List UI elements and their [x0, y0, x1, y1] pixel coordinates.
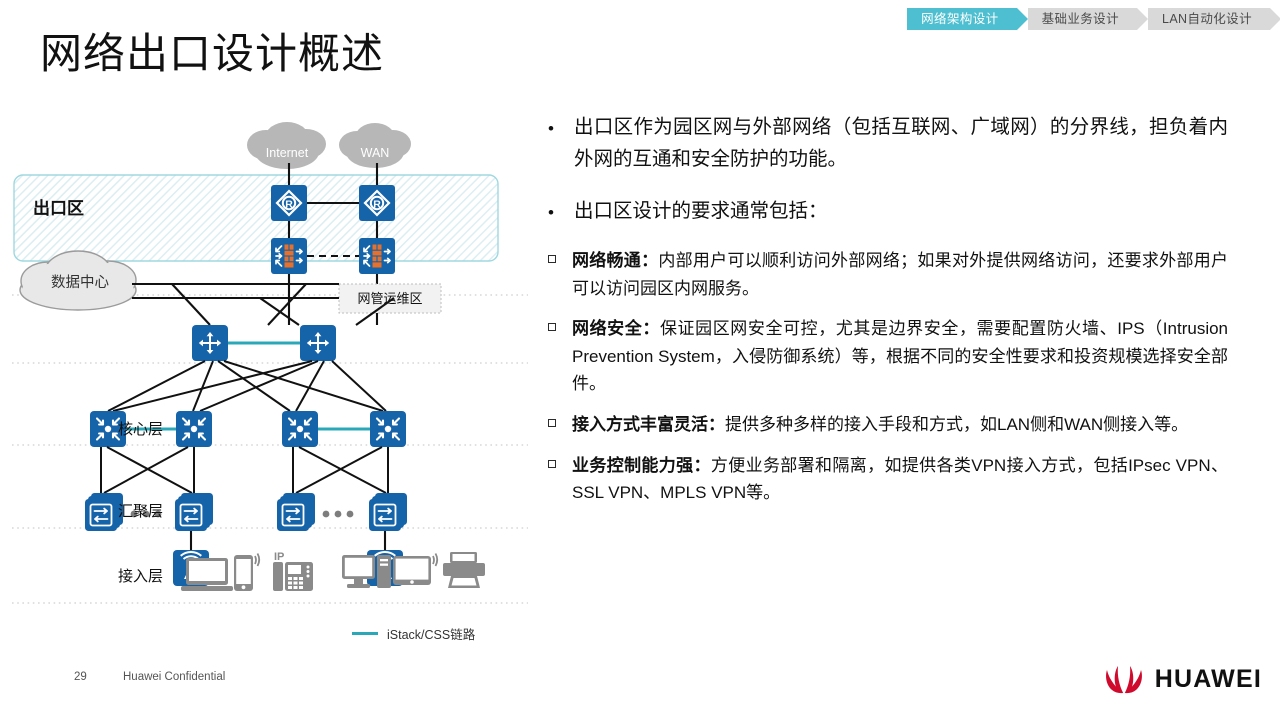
bullet-level2: 业务控制能力强：方便业务部署和隔离，如提供各类VPN接入方式，包括IPsec V…: [548, 452, 1228, 507]
confidentiality-notice: Huawei Confidential: [123, 671, 225, 683]
bullet-square-icon: [548, 315, 572, 398]
access-switch-icon: [175, 493, 213, 531]
bullet-dot-icon: •: [548, 196, 574, 228]
ip-phone-icon: IP: [273, 551, 313, 591]
bullet-level2: 接入方式丰富灵活：提供多种多样的接入手段和方式，如LAN侧和WAN侧接入等。: [548, 411, 1228, 439]
nms-zone-label: 网管运维区: [357, 291, 422, 306]
access-switch-icon: [369, 493, 407, 531]
access-ellipsis: [323, 511, 354, 518]
bullet-level2-text-0: 网络畅通：内部用户可以顺利访问外部网络；如果对外提供网络访问，还要求外部用户可以…: [572, 247, 1228, 302]
breadcrumb-item-2[interactable]: LAN自动化设计: [1148, 8, 1270, 30]
breadcrumb: 网络架构设计 基础业务设计 LAN自动化设计: [907, 8, 1270, 30]
bullet-level2-body-1: 保证园区网安全可控，尤其是边界安全，需要配置防火墙、IPS（Intrusion …: [572, 319, 1228, 393]
bullet-level2-term-0: 网络畅通：: [572, 251, 658, 270]
network-topology-diagram: R: [0, 95, 540, 665]
wan-cloud-label: WAN: [361, 146, 390, 160]
egress-zone-label: 出口区: [33, 198, 84, 218]
laptop-icon: [181, 558, 233, 591]
access-layer-label: 接入层: [118, 565, 163, 586]
printer-icon: [443, 552, 485, 588]
huawei-flower-icon: [1102, 662, 1146, 696]
huawei-wordmark: HUAWEI: [1155, 665, 1262, 694]
core-switch-icon: [192, 325, 228, 361]
bullet-level2-body-0: 内部用户可以顺利访问外部网络；如果对外提供网络访问，还要求外部用户可以访问园区内…: [572, 251, 1228, 298]
breadcrumb-label-2: LAN自动化设计: [1162, 13, 1252, 26]
bullet-level2: 网络安全：保证园区网安全可控，尤其是边界安全，需要配置防火墙、IPS（Intru…: [548, 315, 1228, 398]
internet-cloud-label: Internet: [266, 146, 309, 160]
wan-cloud: WAN: [339, 123, 411, 168]
smartphone-icon: [234, 554, 259, 592]
bullet-level1: • 出口区作为园区网与外部网络（包括互联网、广域网）的分界线，担负着内外网的互通…: [548, 112, 1228, 176]
bullet-level1-text-0: 出口区作为园区网与外部网络（包括互联网、广域网）的分界线，担负着内外网的互通和安…: [574, 112, 1228, 176]
access-switch-icon: [277, 493, 315, 531]
bullet-level2-text-3: 业务控制能力强：方便业务部署和隔离，如提供各类VPN接入方式，包括IPsec V…: [572, 452, 1228, 507]
legend: iStack/CSS链路: [352, 624, 475, 643]
data-center-label: 数据中心: [51, 274, 109, 291]
router-icon: [271, 185, 307, 221]
bullet-square-icon: [548, 411, 572, 439]
aggregation-switch-icon: [370, 411, 406, 447]
bullet-level2-term-2: 接入方式丰富灵活：: [572, 415, 725, 434]
bullet-dot-icon: •: [548, 112, 574, 176]
aggregation-switch-icon: [176, 411, 212, 447]
page-number: 29: [74, 671, 87, 683]
desktop-pc-icon: [342, 555, 391, 588]
router-icon: [359, 185, 395, 221]
bullet-level2: 网络畅通：内部用户可以顺利访问外部网络；如果对外提供网络访问，还要求外部用户可以…: [548, 247, 1228, 302]
bullet-level2-text-1: 网络安全：保证园区网安全可控，尤其是边界安全，需要配置防火墙、IPS（Intru…: [572, 315, 1228, 398]
bullet-square-icon: [548, 247, 572, 302]
breadcrumb-item-1[interactable]: 基础业务设计: [1028, 8, 1137, 30]
bullet-level1-text-1: 出口区设计的要求通常包括：: [574, 196, 1228, 228]
bullet-level2-body-2: 提供多种多样的接入手段和方式，如LAN侧和WAN侧接入等。: [725, 415, 1188, 434]
core-switch-icon: [300, 325, 336, 361]
breadcrumb-label-1: 基础业务设计: [1042, 13, 1119, 26]
bullet-level2-term-1: 网络安全：: [572, 319, 660, 338]
svg-text:IP: IP: [274, 551, 284, 563]
bullet-level2-text-2: 接入方式丰富灵活：提供多种多样的接入手段和方式，如LAN侧和WAN侧接入等。: [572, 411, 1228, 439]
breadcrumb-item-0[interactable]: 网络架构设计: [907, 8, 1016, 30]
egress-zone-box: [14, 175, 498, 261]
bullet-level1: • 出口区设计的要求通常包括：: [548, 196, 1228, 228]
content-bullets: • 出口区作为园区网与外部网络（包括互联网、广域网）的分界线，担负着内外网的互通…: [548, 112, 1228, 520]
aggregation-switch-icon: [282, 411, 318, 447]
aggregation-layer-label: 汇聚层: [118, 500, 163, 521]
huawei-logo: HUAWEI: [1102, 662, 1262, 696]
bullet-square-icon: [548, 452, 572, 507]
legend-label: iStack/CSS链路: [387, 624, 475, 643]
firewall-icon: [271, 238, 307, 274]
core-layer-label: 核心层: [118, 418, 163, 439]
bullet-level2-term-3: 业务控制能力强：: [572, 456, 711, 475]
internet-cloud: Internet: [247, 122, 326, 169]
tablet-icon: [393, 554, 437, 586]
breadcrumb-label-0: 网络架构设计: [921, 13, 998, 26]
istack-link-swatch: [352, 632, 378, 635]
page-title: 网络出口设计概述: [40, 33, 384, 75]
firewall-icon: [359, 238, 395, 274]
